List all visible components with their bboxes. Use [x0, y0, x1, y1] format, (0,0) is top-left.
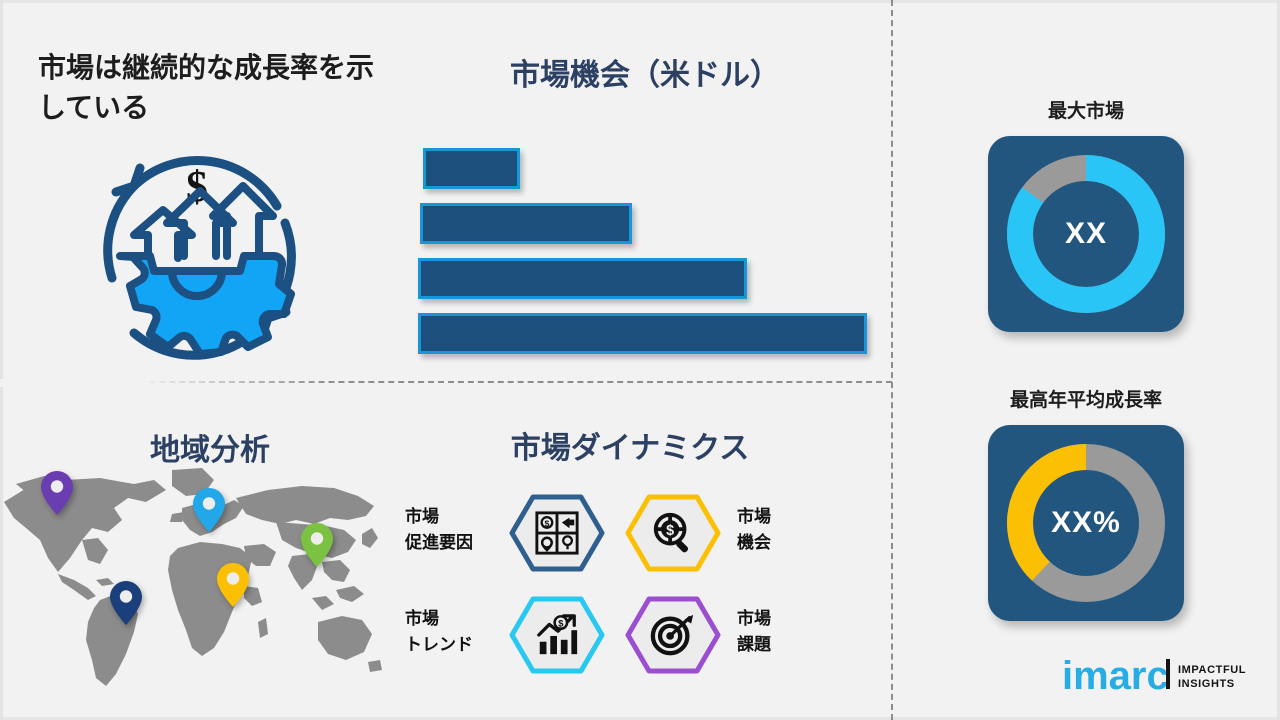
market-trends-item[interactable]: 市場トレンド $ — [405, 592, 605, 678]
svg-text:$: $ — [558, 618, 564, 629]
logo-tagline-line1: IMPACTFUL — [1178, 664, 1246, 676]
largest-market-card: XX — [988, 136, 1184, 332]
largest-market-value: XX — [988, 136, 1184, 332]
logo-wordmark: imarc — [1062, 654, 1169, 698]
target-arrow-icon — [650, 612, 696, 658]
logo-tagline-line2: INSIGHTS — [1178, 678, 1235, 690]
world-map — [0, 462, 396, 692]
bar-chart — [418, 145, 878, 350]
pin-middle-east — [216, 562, 250, 608]
market-opportunities-hexagon[interactable]: $ — [625, 494, 721, 572]
largest-market-title: 最大市場 — [936, 96, 1236, 123]
infographic-slide: 市場は継続的な成長率を示している $ 市場機会（ — [0, 0, 1280, 720]
svg-text:$: $ — [545, 518, 550, 528]
horizontal-dashed-divider — [0, 381, 892, 383]
market-trends-label: 市場トレンド — [405, 606, 501, 657]
bar-1 — [423, 148, 520, 189]
market-drivers-label: 市場促進要因 — [405, 504, 501, 555]
dynamics-row-1: 市場促進要因 $ — [405, 490, 825, 576]
market-challenges-hexagon[interactable] — [625, 596, 721, 674]
market-drivers-item[interactable]: 市場促進要因 $ — [405, 490, 605, 576]
magnifier-dollar-icon: $ — [650, 510, 696, 556]
growth-chart-dollar-icon: $ — [534, 612, 580, 658]
dynamics-row-2: 市場トレンド $ — [405, 592, 825, 678]
growth-panel-title: 市場は継続的な成長率を示している — [38, 48, 378, 128]
logo-divider-bar — [1166, 659, 1170, 689]
pin-east-asia — [300, 522, 334, 568]
growth-cycle-gear-icon: $ — [72, 128, 322, 368]
market-challenges-item[interactable]: 市場課題 — [625, 592, 825, 678]
market-trends-hexagon[interactable]: $ — [509, 596, 605, 674]
market-opportunities-item[interactable]: $ 市場機会 — [625, 490, 825, 576]
puzzle-pieces-icon: $ — [534, 510, 580, 556]
bar-4 — [418, 313, 867, 354]
pin-south-america — [109, 580, 143, 626]
highest-cagr-card: XX% — [988, 425, 1184, 621]
dynamics-panel-title: 市場ダイナミクス — [455, 423, 805, 467]
market-drivers-hexagon[interactable]: $ — [509, 494, 605, 572]
vertical-dashed-divider — [891, 0, 893, 720]
market-challenges-label: 市場課題 — [737, 606, 833, 657]
pin-europe — [192, 487, 226, 533]
imarc-logo: imarc IMPACTFUL INSIGHTS — [1062, 651, 1252, 699]
svg-text:$: $ — [666, 523, 674, 539]
bar-2 — [420, 203, 632, 244]
pin-north-america — [40, 470, 74, 516]
bar-3 — [418, 258, 747, 299]
bar-chart-title: 市場機会（米ドル） — [420, 50, 870, 94]
highest-cagr-title: 最高年平均成長率 — [936, 385, 1236, 412]
highest-cagr-value: XX% — [988, 425, 1184, 621]
slide-top-edge — [0, 0, 1280, 3]
market-opportunities-label: 市場機会 — [737, 504, 833, 555]
